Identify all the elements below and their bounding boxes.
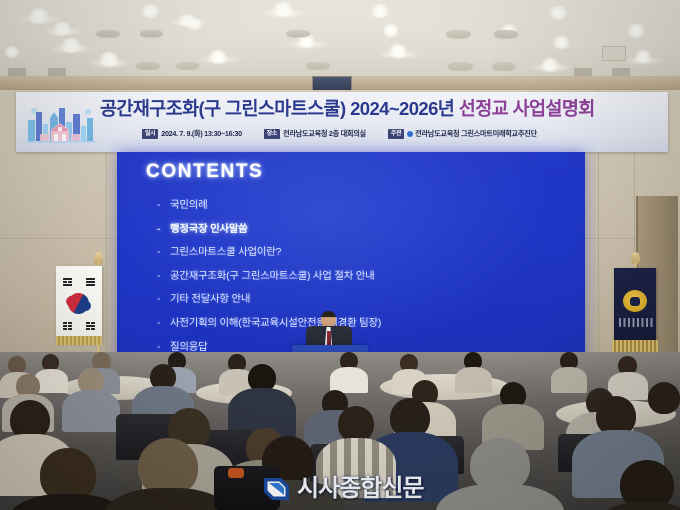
list-item: -그린스마트스쿨 사업이란? (157, 243, 577, 258)
list-item-text: 기타 전달사항 안내 (170, 294, 250, 305)
list-item-text: 국민의례 (170, 200, 207, 211)
event-banner: 공간재구조화(구 그린스마트스쿨) 2024~2026년 선정교 사업설명회 일… (16, 92, 668, 152)
banner-detail-datetime: 일시 2024. 7. 9.(화) 13:30~16:30 (142, 129, 242, 139)
host-logo-icon (407, 131, 413, 137)
list-item-text: 공간재구조화(구 그린스마트스쿨) 사업 절차 안내 (170, 271, 374, 282)
korean-national-flag (56, 266, 102, 342)
bullet-dash: - (157, 200, 170, 211)
education-office-emblem-icon (623, 290, 647, 312)
banner-detail-host: 주관 전라남도교육청 그린스마트미래학교추진단 (388, 129, 537, 139)
ceiling (0, 0, 680, 80)
bullet-dash: - (157, 294, 170, 305)
watermark-text: 시사종합신문 (297, 475, 423, 503)
list-item-text: 행정국장 인사말씀 (170, 224, 248, 235)
banner-detail-host-text: 전라남도교육청 그린스마트미래학교추진단 (415, 129, 537, 139)
banner-detail-datetime-text: 2024. 7. 9.(화) 13:30~16:30 (161, 129, 242, 139)
education-office-flag-text (619, 318, 653, 327)
bullet-dash: - (157, 271, 170, 282)
list-item: -기타 전달사항 안내 (157, 290, 577, 305)
list-item: -공간재구조화(구 그린스마트스쿨) 사업 절차 안내 (157, 267, 577, 282)
watermark: 시사종합신문 (262, 472, 432, 506)
banner-title-part1: 공간재구조화(구 그린스마트스쿨) (100, 98, 350, 119)
banner-title-part3: 선정교 사업설명회 (459, 98, 595, 119)
banner-chip-place: 장소 (264, 129, 280, 139)
list-item-text: 그린스마트스쿨 사업이란? (170, 247, 281, 258)
education-office-flag (614, 268, 656, 346)
taeguk-symbol (64, 289, 92, 317)
banner-title: 공간재구조화(구 그린스마트스쿨) 2024~2026년 선정교 사업설명회 (100, 96, 666, 122)
bullet-dash: - (157, 318, 170, 329)
banner-detail-place-text: 전라남도교육청 2층 대회의실 (283, 129, 366, 139)
flag-fringe-right (612, 340, 658, 352)
list-item: -사전기획의 이해(한국교육시설안전원 김경환 팀장) (157, 314, 577, 329)
banner-detail-place: 장소 전라남도교육청 2층 대회의실 (264, 129, 366, 139)
bullet-dash: - (157, 342, 170, 353)
slide-title: CONTENTS (146, 161, 263, 183)
city-school-illustration (26, 98, 96, 146)
conference-photo: 공간재구조화(구 그린스마트스쿨) 2024~2026년 선정교 사업설명회 일… (0, 0, 680, 510)
bullet-dash: - (157, 224, 170, 235)
banner-title-part2: 2024~2026년 (350, 98, 459, 119)
banner-chip-datetime: 일시 (142, 129, 158, 139)
list-item: -행정국장 인사말씀 (157, 220, 577, 235)
speaker-tie (327, 331, 331, 346)
bullet-dash: - (157, 247, 170, 258)
list-item: -국민의례 (157, 196, 577, 211)
banner-details: 일시 2024. 7. 9.(화) 13:30~16:30 장소 전라남도교육청… (142, 125, 668, 143)
flag-fringe-left (56, 336, 102, 345)
list-item-text: 질의응답 (170, 342, 207, 353)
newspaper-logo-icon (262, 475, 292, 503)
banner-chip-host: 주관 (388, 129, 404, 139)
